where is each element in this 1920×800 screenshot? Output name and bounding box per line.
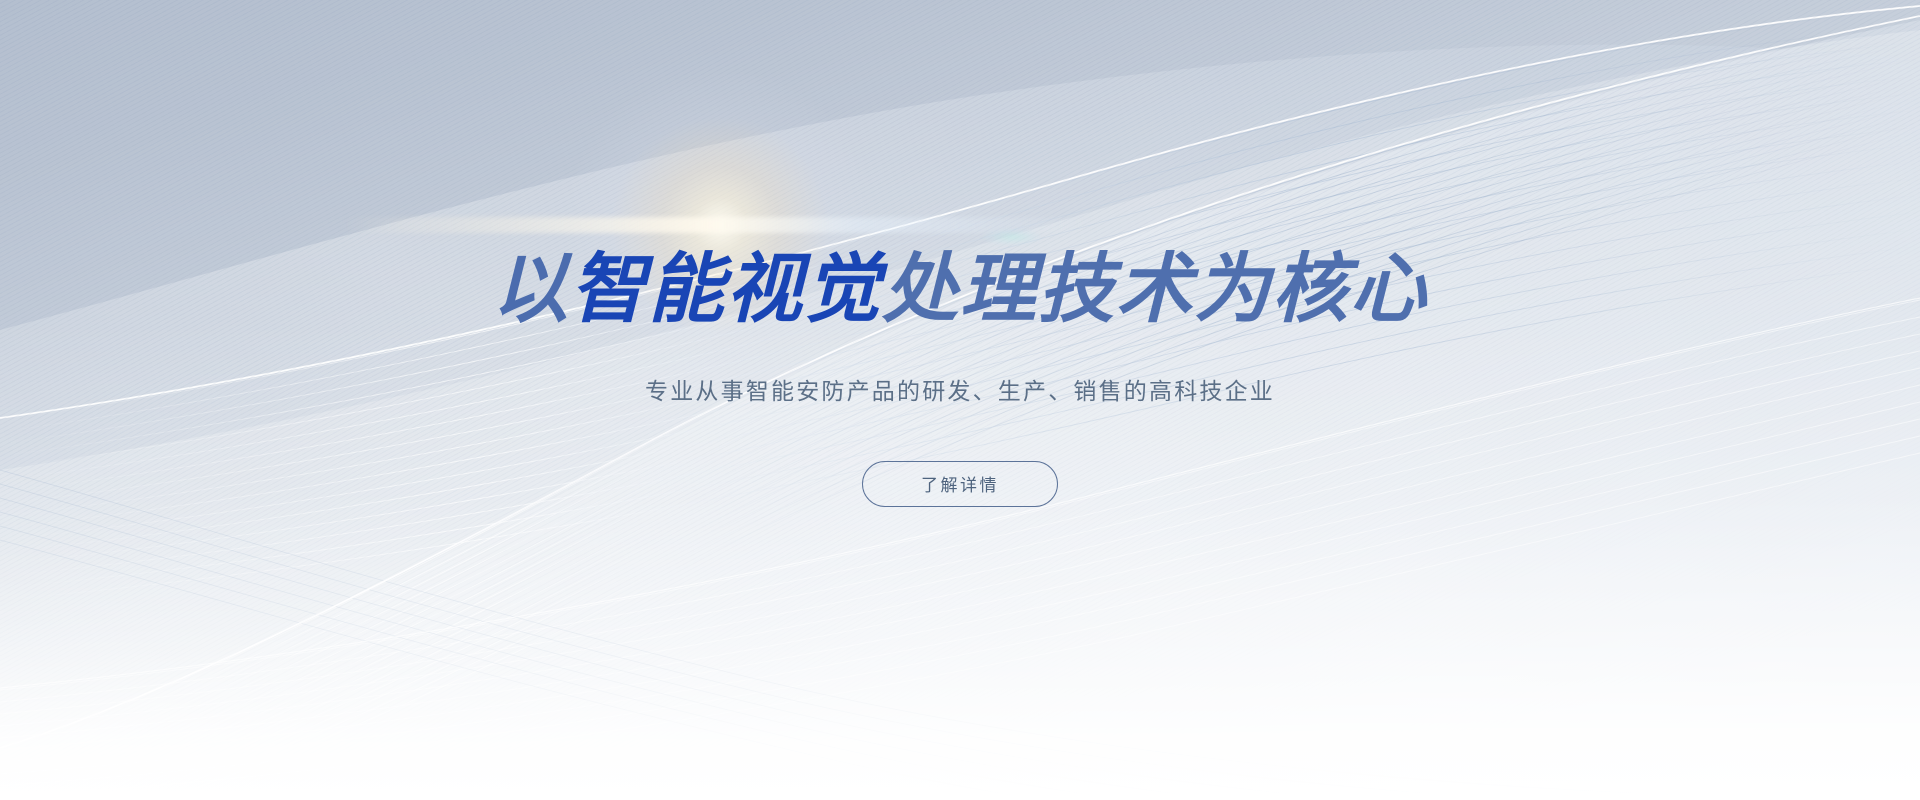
- hero-headline: 以智能视觉处理技术为核心: [492, 250, 1428, 328]
- headline-segment-2: 智能视觉: [570, 244, 882, 333]
- hero-content: 以智能视觉处理技术为核心 专业从事智能安防产品的研发、生产、销售的高科技企业 了…: [0, 0, 1920, 800]
- learn-more-button[interactable]: 了解详情: [862, 461, 1058, 507]
- cta-wrapper: 了解详情: [862, 406, 1058, 507]
- headline-segment-3: 处理技术为核心: [882, 244, 1428, 333]
- headline-segment-1: 以: [492, 244, 570, 333]
- hero-banner: 以智能视觉处理技术为核心 专业从事智能安防产品的研发、生产、销售的高科技企业 了…: [0, 0, 1920, 800]
- hero-subtitle: 专业从事智能安防产品的研发、生产、销售的高科技企业: [645, 328, 1275, 406]
